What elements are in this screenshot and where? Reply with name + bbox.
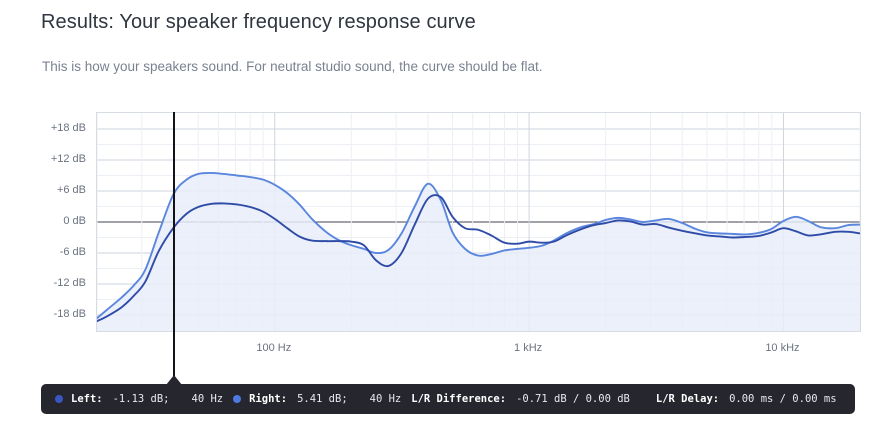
x-axis-tick-label: 100 Hz xyxy=(256,342,291,354)
left-label: Left: xyxy=(71,393,103,405)
left-channel-dot-icon xyxy=(55,395,63,403)
page-subtitle: This is how your speakers sound. For neu… xyxy=(42,57,543,77)
left-frequency: 40 Hz xyxy=(192,393,224,405)
y-axis-tick-label: -18 dB xyxy=(54,308,86,320)
y-axis-tick-label: +18 dB xyxy=(51,122,86,134)
y-axis-tick-label: +6 dB xyxy=(57,184,86,196)
right-frequency: 40 Hz xyxy=(370,393,402,405)
lr-difference-value: -0.71 dB / 0.00 dB xyxy=(516,393,630,405)
chart-svg xyxy=(97,113,860,331)
lr-delay-value: 0.00 ms / 0.00 ms xyxy=(729,393,836,405)
x-axis-labels: 100 Hz1 kHz10 kHz xyxy=(96,342,861,364)
y-axis-tick-label: +12 dB xyxy=(51,153,86,165)
readout-status-bar: Left: -1.13 dB; 40 Hz Right: 5.41 dB; 40… xyxy=(41,384,855,414)
lr-delay-label: L/R Delay: xyxy=(656,393,719,405)
y-axis-tick-label: -6 dB xyxy=(60,246,86,258)
left-value: -1.13 dB; xyxy=(113,393,170,405)
results-page: Results: Your speaker frequency response… xyxy=(0,0,896,426)
y-axis-tick-label: 0 dB xyxy=(63,215,86,227)
frequency-response-chart: +18 dB+12 dB+6 dB0 dB-6 dB-12 dB-18 dB 1… xyxy=(0,96,896,366)
right-value: 5.41 dB; xyxy=(297,393,348,405)
x-axis-tick-label: 1 kHz xyxy=(514,342,542,354)
lr-difference-label: L/R Difference: xyxy=(411,393,506,405)
y-axis-labels: +18 dB+12 dB+6 dB0 dB-6 dB-12 dB-18 dB xyxy=(0,96,96,346)
x-axis-tick-label: 10 kHz xyxy=(765,342,799,354)
right-channel-dot-icon xyxy=(233,395,241,403)
y-axis-tick-label: -12 dB xyxy=(54,277,86,289)
cursor-line[interactable] xyxy=(173,112,175,384)
right-label: Right: xyxy=(249,393,287,405)
page-title: Results: Your speaker frequency response… xyxy=(41,8,476,36)
chart-plot-area[interactable] xyxy=(96,112,861,332)
